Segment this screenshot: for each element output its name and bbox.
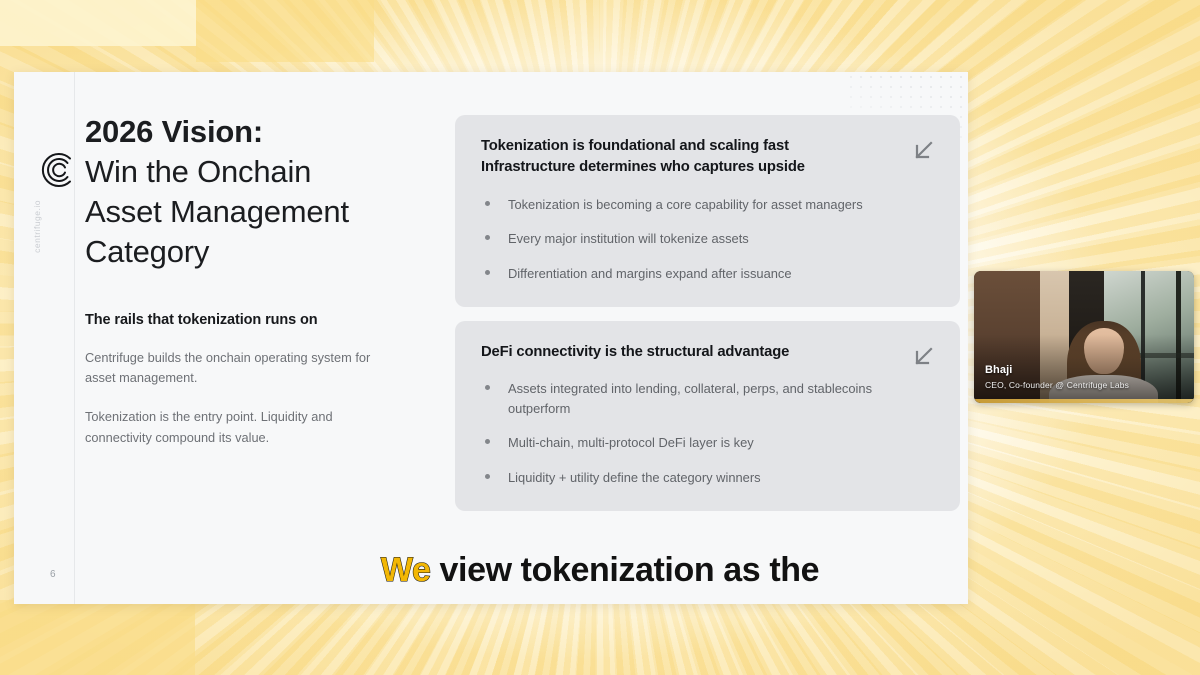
bullet-dot-icon — [485, 385, 490, 390]
bullet-dot-icon — [485, 235, 490, 240]
bullet-text: Every major institution will tokenize as… — [508, 231, 749, 246]
bullet-text: Differentiation and margins expand after… — [508, 266, 792, 281]
video-accent-bar — [974, 399, 1194, 403]
screen: centrifuge.io 6 2026 Vision: Win the Onc… — [0, 0, 1200, 675]
slide-left-column: 2026 Vision: Win the Onchain Asset Manag… — [85, 112, 435, 448]
bullet-dot-icon — [485, 474, 490, 479]
arrow-down-left-icon — [910, 345, 936, 371]
list-item: Every major institution will tokenize as… — [481, 229, 934, 248]
card-title-line-2: Infrastructure determines who captures u… — [481, 157, 879, 178]
bullet-dot-icon — [485, 201, 490, 206]
presentation-slide[interactable]: centrifuge.io 6 2026 Vision: Win the Onc… — [14, 72, 968, 604]
list-item: Assets integrated into lending, collater… — [481, 379, 934, 418]
insight-card-defi[interactable]: DeFi connectivity is the structural adva… — [455, 321, 960, 511]
card-title: DeFi connectivity is the structural adva… — [481, 342, 934, 363]
background-panel-top-second — [196, 0, 374, 62]
body-paragraph-1: Centrifuge builds the onchain operating … — [85, 348, 375, 388]
brand-url-vertical: centrifuge.io — [32, 200, 42, 253]
speaker-role: CEO, Co-founder @ Centrifuge Labs — [985, 380, 1129, 390]
headline-line-3: Asset Management — [85, 192, 435, 232]
insight-card-tokenization[interactable]: Tokenization is foundational and scaling… — [455, 115, 960, 307]
headline-line-4: Category — [85, 232, 435, 272]
list-item: Differentiation and margins expand after… — [481, 264, 934, 283]
slide-page-number: 6 — [50, 569, 56, 580]
bullet-text: Tokenization is becoming a core capabili… — [508, 197, 863, 212]
bullet-text: Multi-chain, multi-protocol DeFi layer i… — [508, 435, 754, 450]
page-title: 2026 Vision: Win the Onchain Asset Manag… — [85, 112, 435, 272]
list-item: Liquidity + utility define the category … — [481, 468, 934, 487]
headline-line-2: Win the Onchain — [85, 152, 435, 192]
background-panel-bottom-left — [0, 600, 195, 675]
bullet-text: Liquidity + utility define the category … — [508, 470, 761, 485]
slide-right-column: Tokenization is foundational and scaling… — [455, 115, 960, 525]
list-item: Tokenization is becoming a core capabili… — [481, 195, 934, 214]
background-panel-top-left — [0, 0, 196, 46]
card-title: Tokenization is foundational and scaling… — [481, 136, 934, 179]
subheading: The rails that tokenization runs on — [85, 312, 435, 328]
card-bullet-list: Assets integrated into lending, collater… — [481, 379, 934, 486]
body-paragraph-2: Tokenization is the entry point. Liquidi… — [85, 407, 375, 447]
centrifuge-c-logo-icon — [39, 152, 75, 188]
bullet-text: Assets integrated into lending, collater… — [508, 381, 872, 415]
list-item: Multi-chain, multi-protocol DeFi layer i… — [481, 433, 934, 452]
bullet-dot-icon — [485, 270, 490, 275]
card-title-line-1: DeFi connectivity is the structural adva… — [481, 344, 789, 360]
speaker-video-overlay[interactable]: Bhaji CEO, Co-founder @ Centrifuge Labs — [974, 271, 1194, 403]
card-bullet-list: Tokenization is becoming a core capabili… — [481, 195, 934, 283]
speaker-name: Bhaji — [985, 364, 1012, 376]
bullet-dot-icon — [485, 439, 490, 444]
arrow-down-left-icon — [910, 139, 936, 165]
card-title-line-1: Tokenization is foundational and scaling… — [481, 138, 789, 154]
headline-line-1: 2026 Vision: — [85, 112, 435, 152]
